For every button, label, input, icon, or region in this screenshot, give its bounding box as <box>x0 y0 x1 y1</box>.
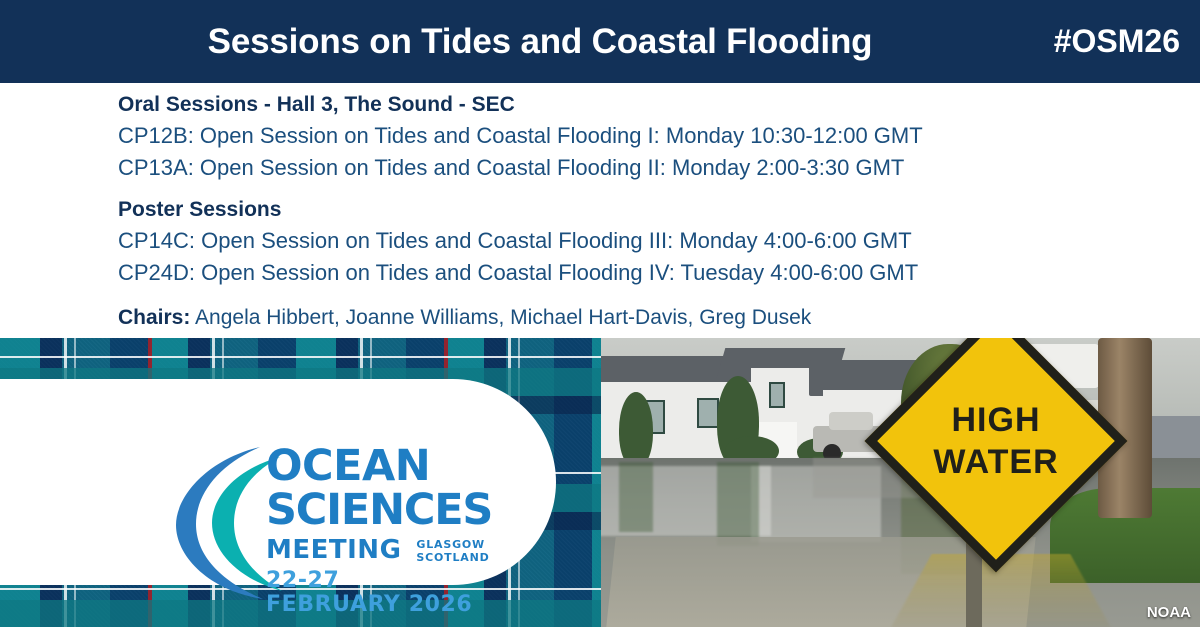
photo-credit: NOAA <box>1147 604 1191 621</box>
group-heading: Poster Sessions <box>118 195 1118 225</box>
logo-wordmark: OCEAN SCIENCES MEETING GLASGOW SCOTLAND … <box>266 445 476 617</box>
session-line: CP24D: Open Session on Tides and Coastal… <box>118 257 1118 289</box>
group-spacer <box>118 184 1118 195</box>
osm-logo: OCEAN SCIENCES MEETING GLASGOW SCOTLAND … <box>168 441 468 603</box>
event-hashtag: #OSM26 <box>1054 0 1180 83</box>
chairs-line: Chairs: Angela Hibbert, Joanne Williams,… <box>118 289 1118 333</box>
logo-line-ocean: OCEAN <box>266 445 476 488</box>
chairs-names: Angela Hibbert, Joanne Williams, Michael… <box>190 306 811 329</box>
session-line: CP13A: Open Session on Tides and Coastal… <box>118 152 1118 184</box>
logo-location: GLASGOW SCOTLAND <box>416 537 489 564</box>
page-title: Sessions on Tides and Coastal Flooding <box>0 0 1200 83</box>
chairs-label: Chairs: <box>118 306 190 329</box>
logo-panel: OCEAN SCIENCES MEETING GLASGOW SCOTLAND … <box>0 379 556 585</box>
logo-location-city: GLASGOW <box>416 538 489 551</box>
window <box>769 382 785 408</box>
session-group-oral: Oral Sessions - Hall 3, The Sound - SEC … <box>118 90 1118 184</box>
session-line: CP14C: Open Session on Tides and Coastal… <box>118 225 1118 257</box>
logo-dates: 22-27 FEBRUARY 2026 <box>266 569 476 617</box>
window <box>697 398 719 428</box>
header-bar: Sessions on Tides and Coastal Flooding #… <box>0 0 1200 83</box>
flood-photo: HIGH WATER NOAA <box>601 338 1200 627</box>
shrub <box>619 392 653 468</box>
tree-reflection <box>619 462 653 532</box>
tree-reflection <box>717 462 759 546</box>
group-heading: Oral Sessions - Hall 3, The Sound - SEC <box>118 90 1118 120</box>
session-listing: Oral Sessions - Hall 3, The Sound - SEC … <box>118 90 1118 333</box>
poster-graphic: Sessions on Tides and Coastal Flooding #… <box>0 0 1200 627</box>
session-group-poster: Poster Sessions CP14C: Open Session on T… <box>118 195 1118 289</box>
logo-line-sciences: SCIENCES <box>266 488 476 533</box>
logo-line-meeting: MEETING <box>266 537 401 563</box>
truck-cab <box>829 412 873 430</box>
session-line: CP12B: Open Session on Tides and Coastal… <box>118 120 1118 152</box>
logo-meeting-row: MEETING GLASGOW SCOTLAND <box>266 537 476 564</box>
logo-location-country: SCOTLAND <box>416 551 489 564</box>
image-strip: OCEAN SCIENCES MEETING GLASGOW SCOTLAND … <box>0 338 1200 627</box>
